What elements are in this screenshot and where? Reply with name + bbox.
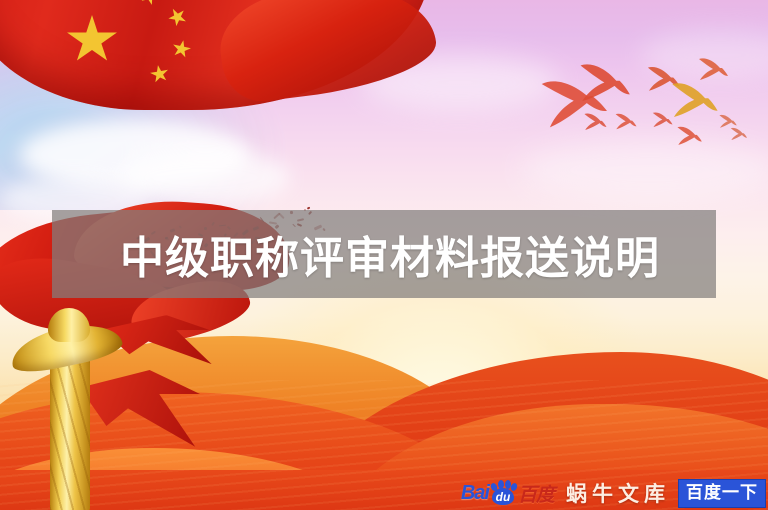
baidu-logo[interactable]: Bai du 百度 bbox=[455, 476, 556, 510]
column-top bbox=[48, 308, 90, 342]
particle bbox=[307, 206, 311, 209]
title-band: 中级职称评审材料报送说明 bbox=[52, 210, 716, 298]
chinese-flag-icon bbox=[0, 0, 440, 130]
paw-label: du bbox=[490, 488, 516, 505]
huabiao-column-icon bbox=[28, 300, 120, 510]
brand-label: 蜗牛文库 bbox=[556, 478, 678, 508]
baidu-chinese-text: 百度 bbox=[518, 480, 554, 507]
baidu-latin-text: Bai bbox=[461, 482, 489, 505]
watermark-bar: Bai du 百度 蜗牛文库 百度一下 bbox=[455, 476, 768, 510]
flag-fold bbox=[214, 0, 440, 106]
paw-icon: du bbox=[490, 481, 516, 505]
poster-image: 中级职称评审材料报送说明 Bai du 百度 蜗牛文库 百度一下 bbox=[0, 0, 768, 510]
baidu-search-button[interactable]: 百度一下 bbox=[678, 479, 766, 508]
page-title: 中级职称评审材料报送说明 bbox=[52, 222, 660, 286]
bird-icon bbox=[542, 58, 748, 145]
